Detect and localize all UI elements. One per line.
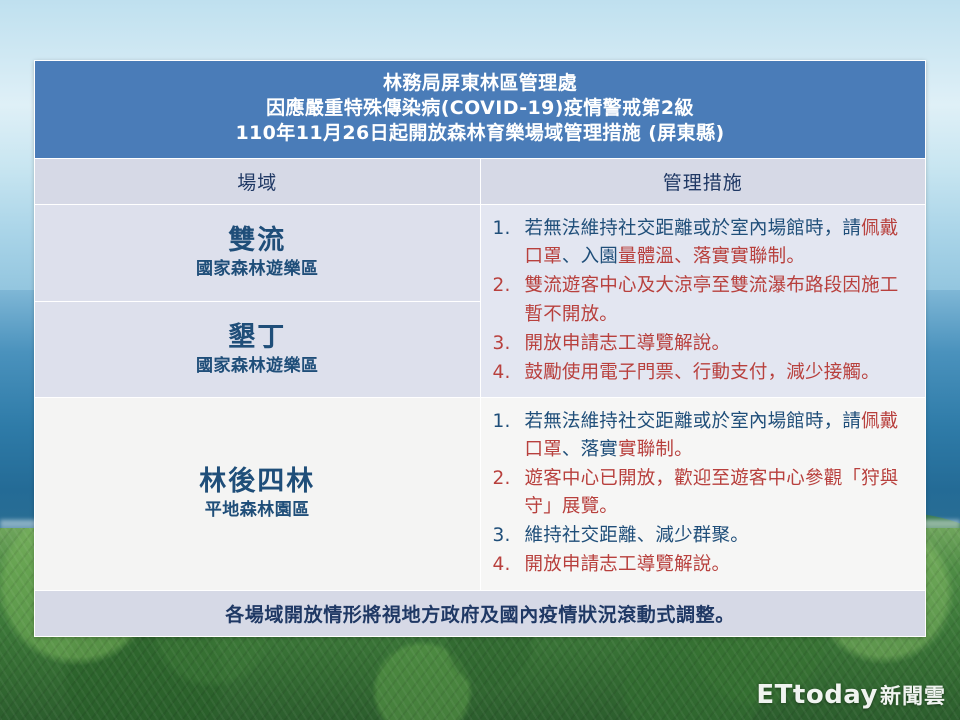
venue-cell-kenting: 墾丁 國家森林遊樂區: [35, 301, 481, 397]
watermark-brand: ETtoday: [756, 680, 878, 710]
venue-cell-linhousilin: 林後四林 平地森林園區: [35, 397, 481, 590]
measure-item-number: 2.: [493, 465, 519, 493]
table-header-row: 林務局屏東林區管理處 因應嚴重特殊傳染病(COVID-19)疫情警戒第2級 11…: [35, 61, 926, 159]
notice-title-line1: 林務局屏東林區管理處: [43, 71, 917, 96]
measure-item-text: 量體溫、落實實聯制。: [618, 246, 805, 267]
measure-item-number: 2.: [493, 272, 519, 300]
measures-cell-group-1: 1.若無法維持社交距離或於室內場館時，請佩戴口罩、入園量體溫、落實實聯制。2.雙…: [480, 205, 926, 398]
column-header-measures: 管理措施: [480, 159, 926, 205]
measure-item: 3.維持社交距離、減少群聚。: [491, 522, 912, 550]
measures-list-group-1: 1.若無法維持社交距離或於室內場館時，請佩戴口罩、入園量體溫、落實實聯制。2.雙…: [491, 215, 912, 387]
venue-cell-shuangliu: 雙流 國家森林遊樂區: [35, 205, 481, 301]
measure-item-number: 4.: [493, 551, 519, 579]
measure-item-text: 開放申請志工導覽解說。: [525, 554, 731, 575]
venue-subtitle: 國家森林遊樂區: [41, 258, 474, 280]
measure-item: 4.開放申請志工導覽解說。: [491, 551, 912, 579]
notice-table-container: 林務局屏東林區管理處 因應嚴重特殊傳染病(COVID-19)疫情警戒第2級 11…: [34, 60, 926, 637]
measure-item: 2.雙流遊客中心及大涼亭至雙流瀑布路段因施工暫不開放。: [491, 272, 912, 328]
notice-title-line2: 因應嚴重特殊傳染病(COVID-19)疫情警戒第2級: [43, 96, 917, 121]
measure-item-text: 鼓勵使用電子門票、行動支付，減少接觸。: [525, 362, 880, 383]
measure-item-text: 開放申請志工導覽解說。: [525, 333, 731, 354]
measure-item-text: 遊客中心已開放，歡迎至遊客中心參觀「狩與守」展覽。: [525, 468, 899, 517]
measures-list-group-2: 1.若無法維持社交距離或於室內場館時，請佩戴口罩、落實實聯制。2.遊客中心已開放…: [491, 408, 912, 580]
table-column-header-row: 場域 管理措施: [35, 159, 926, 205]
notice-title-cell: 林務局屏東林區管理處 因應嚴重特殊傳染病(COVID-19)疫情警戒第2級 11…: [35, 61, 926, 159]
measure-item-text: 實聯制。: [618, 439, 693, 460]
measures-cell-group-2: 1.若無法維持社交距離或於室內場館時，請佩戴口罩、落實實聯制。2.遊客中心已開放…: [480, 397, 926, 590]
table-row: 林後四林 平地森林園區 1.若無法維持社交距離或於室內場館時，請佩戴口罩、落實實…: [35, 397, 926, 590]
footer-note: 各場域開放情形將視地方政府及國內疫情狀況滾動式調整。: [35, 590, 926, 636]
measure-item-number: 3.: [493, 330, 519, 358]
venue-name: 墾丁: [41, 322, 474, 355]
measure-item-text: 、落實: [562, 439, 618, 460]
notice-title-line3: 110年11月26日起開放森林育樂場域管理措施 (屏東縣): [43, 121, 917, 146]
venue-name: 林後四林: [41, 466, 474, 499]
measure-item-text: 若無法維持社交距離或於室內場館時，請: [525, 218, 862, 239]
venue-subtitle: 國家森林遊樂區: [41, 355, 474, 377]
measure-item: 1.若無法維持社交距離或於室內場館時，請佩戴口罩、入園量體溫、落實實聯制。: [491, 215, 912, 271]
notice-table: 林務局屏東林區管理處 因應嚴重特殊傳染病(COVID-19)疫情警戒第2級 11…: [34, 60, 926, 637]
measure-item-text: 雙流遊客中心及大涼亭至雙流瀑布路段因施工暫不開放。: [525, 275, 899, 324]
measure-item-number: 1.: [493, 408, 519, 436]
measure-item: 1.若無法維持社交距離或於室內場館時，請佩戴口罩、落實實聯制。: [491, 408, 912, 464]
measure-item-number: 4.: [493, 359, 519, 387]
venue-subtitle: 平地森林園區: [41, 499, 474, 521]
measure-item-number: 1.: [493, 215, 519, 243]
table-row: 雙流 國家森林遊樂區 1.若無法維持社交距離或於室內場館時，請佩戴口罩、入園量體…: [35, 205, 926, 301]
column-header-venue: 場域: [35, 159, 481, 205]
table-footer-row: 各場域開放情形將視地方政府及國內疫情狀況滾動式調整。: [35, 590, 926, 636]
measure-item-text: 若無法維持社交距離或於室內場館時，請: [525, 411, 862, 432]
measure-item: 3.開放申請志工導覽解說。: [491, 330, 912, 358]
measure-item: 4.鼓勵使用電子門票、行動支付，減少接觸。: [491, 359, 912, 387]
venue-name: 雙流: [41, 225, 474, 258]
measure-item-text: 、入園: [562, 246, 618, 267]
ettoday-watermark: ETtoday 新聞雲: [756, 680, 946, 710]
measure-item-number: 3.: [493, 522, 519, 550]
watermark-brand-cn: 新聞雲: [880, 680, 946, 710]
measure-item-text: 維持社交距離、減少群聚。: [525, 525, 749, 546]
measure-item: 2.遊客中心已開放，歡迎至遊客中心參觀「狩與守」展覽。: [491, 465, 912, 521]
